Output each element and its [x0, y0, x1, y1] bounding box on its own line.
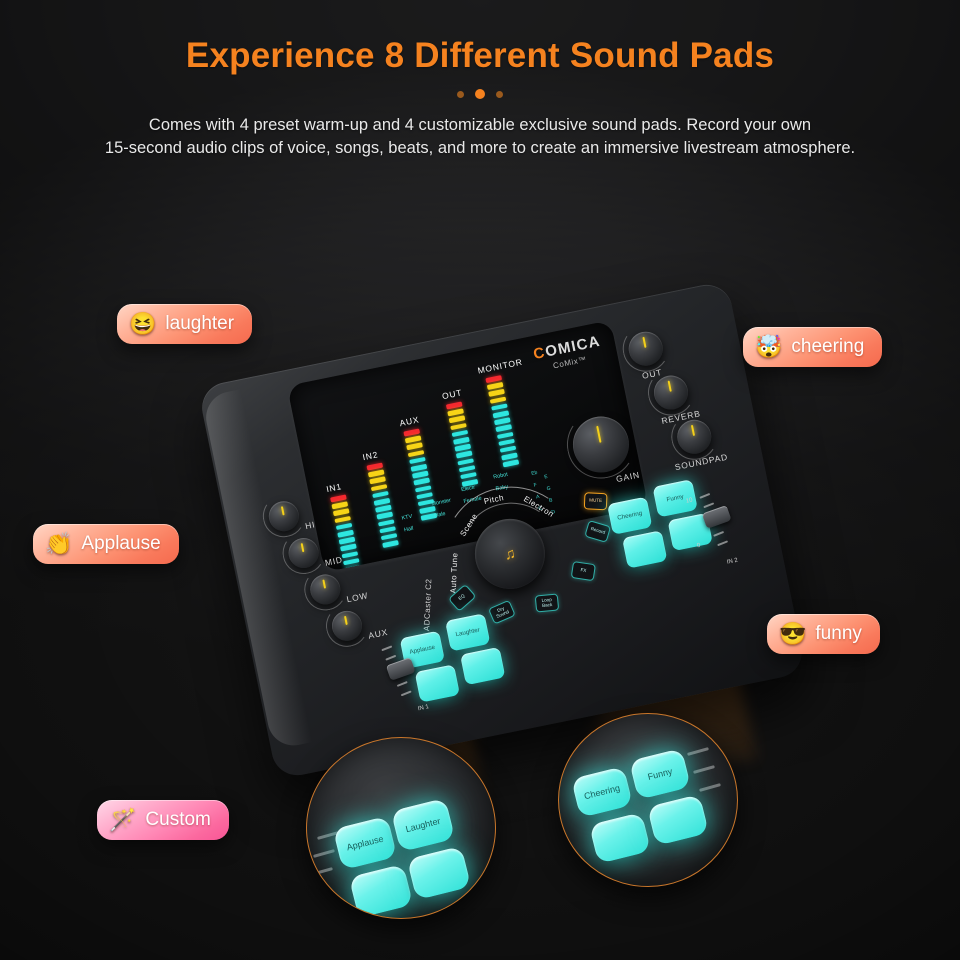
magic-wand-emoji: 🪄	[109, 809, 136, 831]
meter-label-out: OUT	[441, 387, 463, 401]
magnified-pad-custom-4[interactable]	[647, 794, 709, 846]
meter-segment	[342, 551, 359, 559]
promo-stage: Experience 8 Different Sound Pads Comes …	[0, 0, 960, 960]
aux-knob[interactable]	[329, 608, 364, 643]
meter-segment	[503, 460, 520, 468]
loopback-button[interactable]: Loop Back	[535, 593, 560, 612]
meter-label-monitor: MONITOR	[477, 357, 524, 376]
meter-segment	[450, 423, 467, 431]
soundpad-knob[interactable]	[674, 417, 714, 457]
meter-monitor	[485, 375, 519, 467]
meter-segment	[495, 424, 512, 432]
separator-dot-2	[475, 89, 485, 99]
brand-logo: COMICA CoMix™	[532, 333, 604, 374]
effect-label: KTV	[401, 514, 413, 522]
low-knob[interactable]	[308, 572, 343, 607]
exploding-head-emoji: 🤯	[755, 336, 782, 358]
meter-in2	[366, 463, 398, 548]
meter-segment	[376, 512, 393, 520]
mute-button[interactable]: MUTE	[584, 492, 608, 510]
sound-pill-funny-label: funny	[815, 623, 861, 645]
magnifier-strip	[699, 783, 721, 792]
mid-knob[interactable]	[286, 535, 321, 570]
meter-segment	[498, 438, 515, 446]
magnifier-strip	[687, 747, 709, 756]
meter-segment	[459, 465, 476, 473]
magnified-pad-cheering[interactable]: Cheering	[571, 766, 633, 818]
magnified-pad-laughter[interactable]: Laughter	[391, 798, 455, 852]
meter-label-in1: IN1	[325, 481, 342, 494]
sound-pill-funny[interactable]: 😎 funny	[767, 614, 880, 654]
sound-pill-custom[interactable]: 🪄 Custom	[97, 800, 229, 840]
meter-segment	[497, 431, 514, 439]
meter-segment	[382, 540, 399, 548]
header: Experience 8 Different Sound Pads Comes …	[0, 0, 960, 160]
meter-segment	[378, 519, 395, 527]
magnified-pad-custom-1[interactable]	[349, 864, 413, 918]
meter-segment	[488, 389, 505, 397]
dot-separator	[0, 88, 960, 100]
meter-segment	[457, 458, 474, 466]
magnified-pad-custom-2[interactable]	[407, 846, 471, 900]
headphone-icon: ♫	[503, 544, 517, 563]
meter-segment	[408, 450, 425, 458]
meter-out	[446, 401, 478, 486]
magnified-pad-applause[interactable]: Applause	[333, 816, 397, 870]
separator-dot-1	[457, 91, 464, 98]
sound-pill-custom-label: Custom	[145, 809, 210, 831]
laughing-emoji: 😆	[129, 313, 156, 335]
meter-segment	[340, 544, 357, 552]
meter-segment	[334, 516, 351, 524]
magnifier-strip	[693, 765, 715, 774]
subtitle-line-2: 15-second audio clips of voice, songs, b…	[65, 137, 895, 160]
meter-segment	[369, 477, 386, 485]
meter-segment	[371, 484, 388, 492]
meter-segment	[415, 485, 432, 493]
meter-segment	[413, 478, 430, 486]
meter-label-aux: AUX	[399, 414, 420, 428]
reverb-knob[interactable]	[651, 373, 691, 413]
subtitle-line-1: Comes with 4 preset warm-up and 4 custom…	[65, 114, 895, 137]
magnifier-strip	[313, 849, 335, 858]
magnifier-left-pads: Applause Laughter	[306, 737, 496, 919]
separator-dot-3	[496, 91, 503, 98]
fx-button[interactable]: FX	[571, 561, 596, 581]
auto-tune-label[interactable]: Auto Tune	[449, 552, 460, 593]
meter-segment	[490, 396, 507, 404]
meter-segment	[449, 416, 466, 424]
meter-label-in2: IN2	[362, 449, 379, 462]
sound-pill-cheering[interactable]: 🤯 cheering	[743, 327, 882, 367]
meter-segment	[333, 509, 350, 517]
effect-label: Hall	[404, 526, 414, 534]
magnifier-right-pads: Cheering Funny	[558, 713, 738, 887]
sunglasses-emoji: 😎	[779, 623, 806, 645]
meter-segment	[406, 443, 423, 451]
meter-segment	[343, 558, 360, 566]
page-subtitle: Comes with 4 preset warm-up and 4 custom…	[65, 114, 895, 160]
magnified-pad-custom-3[interactable]	[589, 812, 651, 864]
sound-pill-applause-label: Applause	[81, 533, 160, 555]
meter-segment	[456, 451, 473, 459]
magnified-pad-funny[interactable]: Funny	[629, 748, 691, 800]
page-title: Experience 8 Different Sound Pads	[0, 0, 960, 76]
out-knob[interactable]	[626, 329, 666, 369]
sound-pill-laughter[interactable]: 😆 laughter	[117, 304, 252, 344]
sound-pill-laughter-label: laughter	[165, 313, 234, 335]
hi-knob[interactable]	[266, 499, 301, 534]
sound-pill-cheering-label: cheering	[791, 336, 864, 358]
clapping-hands-emoji: 👏	[45, 533, 72, 555]
meter-segment	[379, 526, 396, 534]
comica-adcaster-device: COMICA CoMix™ IN1 IN2 AUX OUT MONITOR KT…	[198, 280, 807, 780]
gain-knob[interactable]	[568, 412, 634, 478]
sound-pill-applause[interactable]: 👏 Applause	[33, 524, 179, 564]
hi-knob-label: HI	[304, 519, 316, 531]
